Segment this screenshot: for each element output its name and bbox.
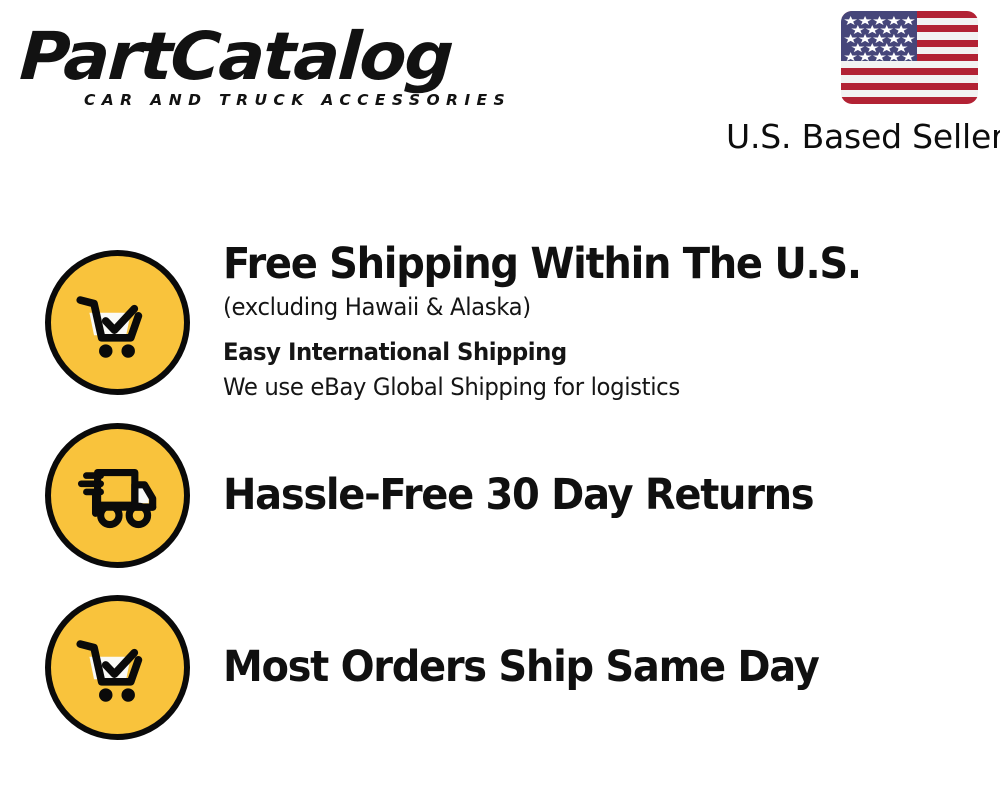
shopping-cart-check-icon	[45, 595, 190, 740]
feature-row: Most Orders Ship Same Day	[0, 594, 1000, 740]
feature-text-block: Hassle-Free 30 Day Returns	[223, 469, 1000, 521]
feature-subtitle: (excluding Hawaii & Alaska)	[223, 290, 961, 324]
brand-wordmark: PartCatalog	[18, 20, 511, 94]
us-flag-icon	[841, 11, 978, 104]
flag-canton	[841, 11, 917, 61]
partcatalog-logo: PartCatalog CAR AND TRUCK ACCESSORIES	[22, 20, 492, 120]
shopping-cart-check-icon	[45, 250, 190, 395]
delivery-truck-icon	[45, 423, 190, 568]
feature-title: Hassle-Free 30 Day Returns	[223, 469, 946, 521]
us-based-seller-label: U.S. Based Seller	[726, 117, 988, 156]
feature-secondary-title: Easy International Shipping	[223, 335, 961, 369]
feature-secondary-subtitle: We use eBay Global Shipping for logistic…	[223, 370, 961, 404]
feature-title: Most Orders Ship Same Day	[223, 641, 946, 693]
promo-banner: PartCatalog CAR AND TRUCK ACCESSORIES	[0, 0, 1000, 800]
feature-text-block: Most Orders Ship Same Day	[223, 641, 1000, 693]
feature-row: Hassle-Free 30 Day Returns	[0, 422, 1000, 568]
feature-text-block: Free Shipping Within The U.S. (excluding…	[223, 238, 1000, 404]
feature-row: Free Shipping Within The U.S. (excluding…	[0, 238, 1000, 410]
feature-title: Free Shipping Within The U.S.	[223, 238, 946, 290]
